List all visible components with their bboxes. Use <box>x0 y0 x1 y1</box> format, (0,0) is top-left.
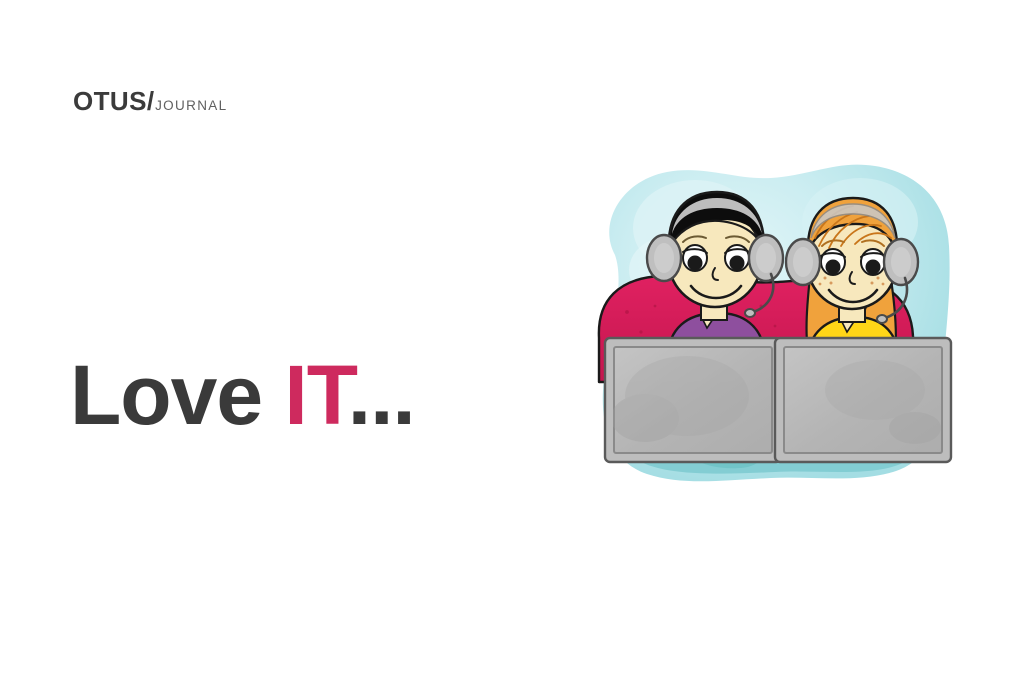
hero-illustration <box>575 150 975 510</box>
headline-word-it: IT <box>284 348 347 442</box>
brand-suffix-journal: JOURNAL <box>155 99 227 113</box>
brand-separator-slash: / <box>147 88 154 114</box>
page-title: Love IT... <box>70 353 415 437</box>
monitor-right <box>775 338 951 462</box>
monitor-left <box>605 338 781 462</box>
page-canvas: OTUS/JOURNAL Love IT... <box>0 0 1024 683</box>
headline-ellipsis: ... <box>348 348 415 442</box>
brand-logo[interactable]: OTUS/JOURNAL <box>73 88 228 114</box>
brand-name-otus: OTUS <box>73 88 147 114</box>
headline-word-love: Love <box>70 348 284 442</box>
